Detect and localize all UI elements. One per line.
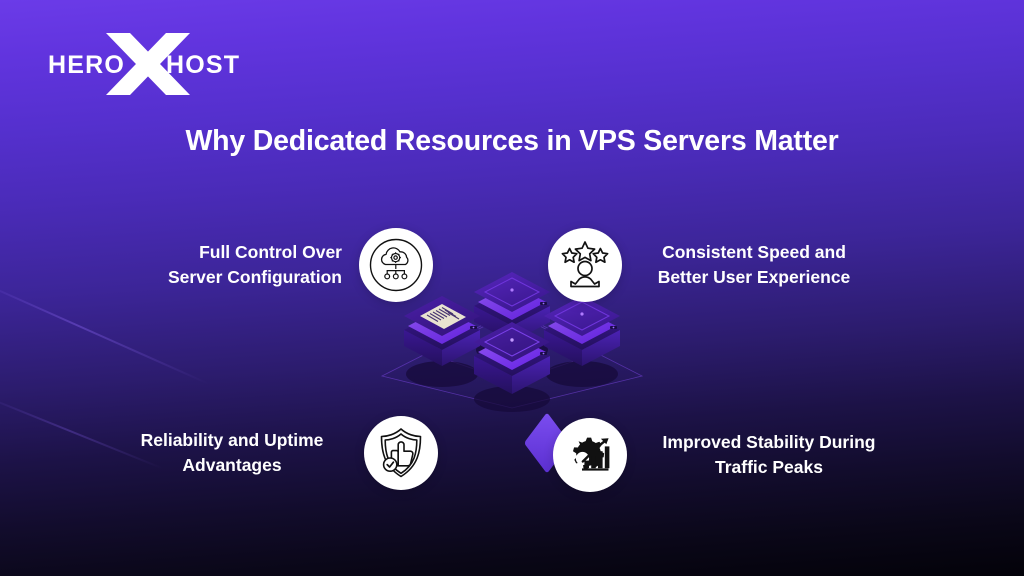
page-title: Why Dedicated Resources in VPS Servers M… xyxy=(0,125,1024,158)
shield-thumbs-up-check-icon xyxy=(373,425,429,481)
feature-icon-badge-consistent-speed[interactable] xyxy=(548,228,622,302)
logo-text-host: HOST xyxy=(166,53,240,78)
feature-icon-badge-reliability[interactable] xyxy=(364,416,438,490)
feature-consistent-speed[interactable]: Consistent Speed and Better User Experie… xyxy=(548,228,869,302)
server-unit-left xyxy=(404,296,480,366)
cloud-gear-network-icon xyxy=(367,236,425,294)
feature-label-full-control: Full Control Over Server Configuration xyxy=(120,240,342,290)
user-stars-rating-icon xyxy=(557,237,613,293)
infographic-canvas: HERO HOST Why Dedicated Resources in VPS… xyxy=(0,0,1024,576)
brand-logo[interactable]: HERO HOST xyxy=(48,33,258,99)
feature-label-improved-stability: Improved Stability During Traffic Peaks xyxy=(644,430,894,480)
server-unit-front xyxy=(474,322,550,394)
feature-reliability[interactable]: Reliability and Uptime Advantages xyxy=(112,416,438,490)
feature-full-control[interactable]: Full Control Over Server Configuration xyxy=(120,228,433,302)
feature-improved-stability[interactable]: Improved Stability During Traffic Peaks xyxy=(553,418,894,492)
feature-label-reliability: Reliability and Uptime Advantages xyxy=(112,428,352,478)
feature-label-consistent-speed: Consistent Speed and Better User Experie… xyxy=(639,240,869,290)
feature-icon-badge-full-control[interactable] xyxy=(359,228,433,302)
server-unit-right xyxy=(544,296,620,366)
gear-bar-chart-growth-icon xyxy=(562,427,618,483)
feature-icon-badge-improved-stability[interactable] xyxy=(553,418,627,492)
